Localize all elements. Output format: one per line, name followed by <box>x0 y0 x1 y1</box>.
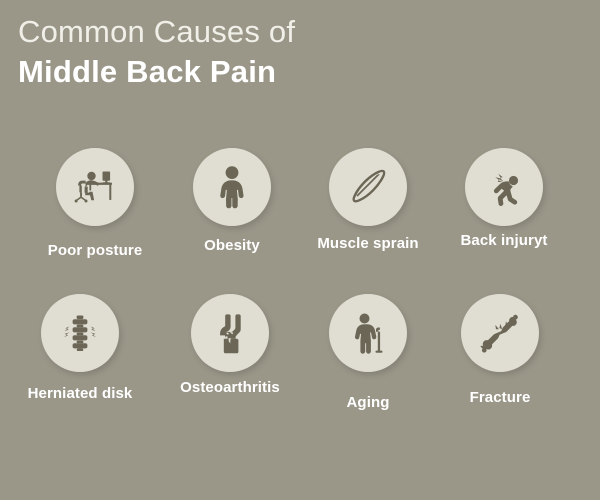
icon-badge <box>56 148 134 226</box>
elderly-person-cane-icon <box>345 310 391 356</box>
icon-badge <box>191 294 269 372</box>
cause-item-herniated-disk[interactable]: Herniated disk <box>0 294 160 402</box>
icon-badge <box>465 148 543 226</box>
cause-item-poor-posture[interactable]: Poor posture <box>15 148 175 259</box>
knee-joint-icon <box>206 309 254 357</box>
muscle-fiber-icon <box>344 163 392 211</box>
icon-badge <box>329 294 407 372</box>
cause-label: Poor posture <box>15 242 175 259</box>
icon-badge <box>41 294 119 372</box>
cause-label: Osteoarthritis <box>150 379 310 396</box>
cause-item-osteoarthritis[interactable]: Osteoarthritis <box>150 294 310 396</box>
cause-label: Back injuryt <box>424 232 584 249</box>
back-injury-person-icon <box>481 164 527 210</box>
icon-badge <box>461 294 539 372</box>
causes-grid: Poor posture Obesity <box>0 0 600 500</box>
icon-badge <box>193 148 271 226</box>
spine-vertebrae-icon <box>56 309 104 357</box>
cause-label: Fracture <box>420 389 580 406</box>
overweight-person-icon <box>210 164 254 210</box>
cause-label: Herniated disk <box>0 385 160 402</box>
broken-bone-icon <box>476 309 524 357</box>
icon-badge <box>329 148 407 226</box>
desk-posture-icon <box>71 163 119 211</box>
cause-item-fracture[interactable]: Fracture <box>420 294 580 406</box>
cause-item-back-injury[interactable]: Back injuryt <box>424 148 584 249</box>
